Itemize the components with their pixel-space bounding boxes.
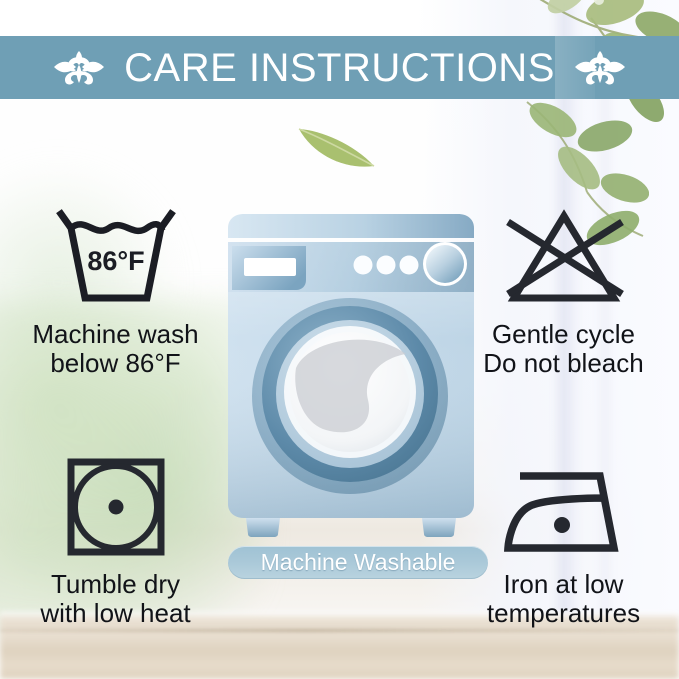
control-knob [426, 245, 464, 283]
fleur-de-lis-icon-right [573, 47, 627, 89]
care-symbol-label: Iron at low temperatures [456, 570, 671, 627]
washing-machine-illustration [222, 208, 480, 538]
label-line-2: temperatures [456, 599, 671, 628]
label-line-1: Iron at low [456, 570, 671, 599]
care-symbol-iron-low: Iron at low temperatures [456, 446, 671, 627]
care-symbol-do-not-bleach: Gentle cycle Do not bleach [456, 196, 671, 377]
page-title: CARE INSTRUCTIONS [124, 48, 555, 88]
care-symbol-machine-wash: 86°F Machine wash below 86°F [8, 196, 223, 377]
wash-temperature-value: 86°F [87, 246, 144, 276]
status-badge: Machine Washable [228, 546, 488, 579]
care-symbol-tumble-dry: Tumble dry with low heat [8, 446, 223, 627]
banner: CARE INSTRUCTIONS [0, 36, 679, 99]
care-symbol-label: Tumble dry with low heat [8, 570, 223, 627]
fleur-de-lis-icon-left [52, 47, 106, 89]
label-line-2: below 86°F [8, 349, 223, 378]
care-symbol-label: Machine wash below 86°F [8, 320, 223, 377]
tumble-dry-one-dot-icon [8, 446, 223, 558]
label-line-1: Gentle cycle [456, 320, 671, 349]
machine-foot-right [422, 518, 456, 537]
machine-foot-left [246, 518, 280, 537]
floating-leaf-icon [296, 120, 378, 172]
table-seam-line [0, 629, 679, 632]
label-line-2: Do not bleach [456, 349, 671, 378]
iron-one-dot-icon [456, 446, 671, 558]
label-line-2: with low heat [8, 599, 223, 628]
indicator-light-1 [354, 256, 373, 275]
drawer-handle-slot [244, 258, 296, 276]
triangle-crossed-icon [456, 196, 671, 308]
label-line-1: Machine wash [8, 320, 223, 349]
status-badge-label: Machine Washable [261, 551, 456, 574]
care-symbol-label: Gentle cycle Do not bleach [456, 320, 671, 377]
machine-top-lid [228, 214, 474, 238]
label-line-1: Tumble dry [8, 570, 223, 599]
indicator-light-3 [400, 256, 419, 275]
wash-tub-icon: 86°F [8, 196, 223, 308]
care-instructions-infographic: CARE INSTRUCTIONS [0, 0, 679, 679]
indicator-light-2 [377, 256, 396, 275]
